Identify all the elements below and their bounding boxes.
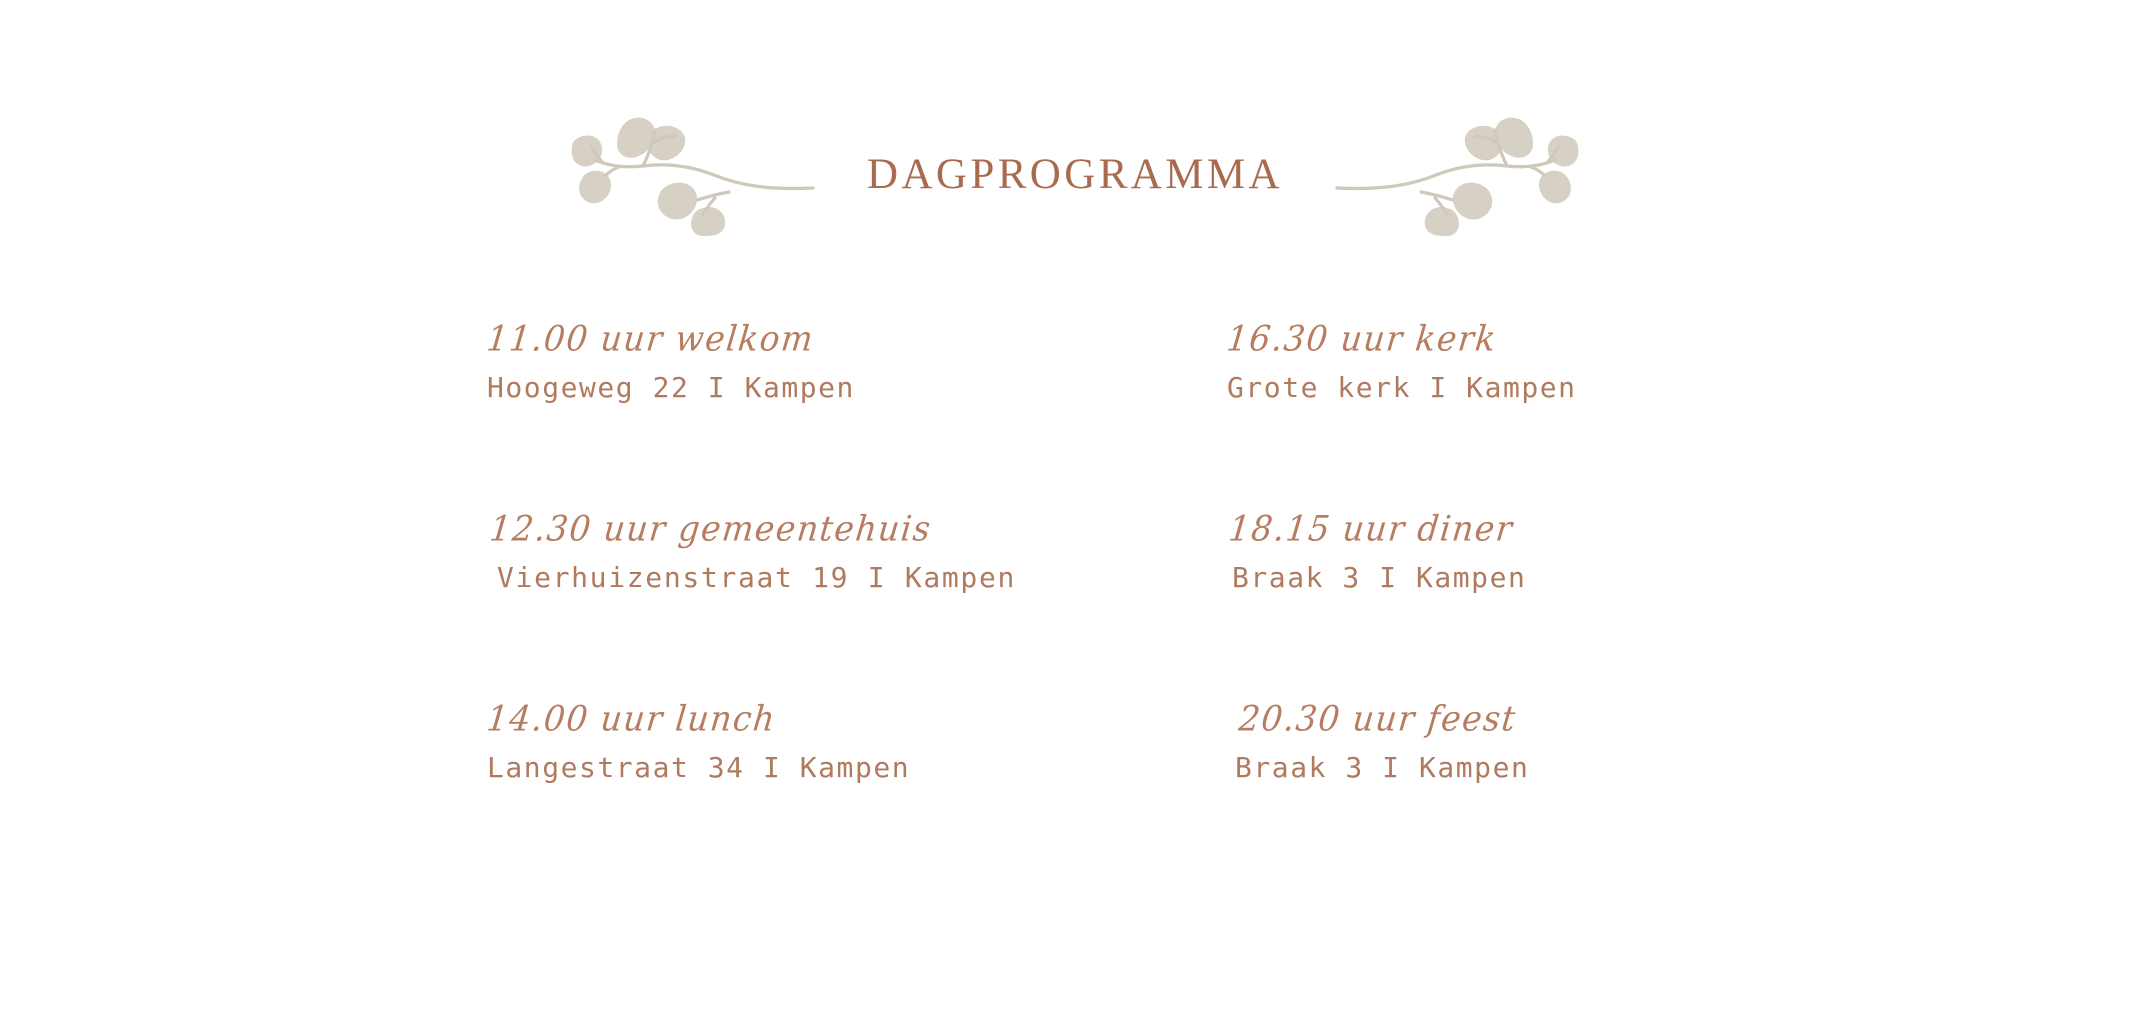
schedule-item-time: 14.00 uur lunch [485,701,1229,738]
schedule-item-time: 11.00 uur welkom [485,321,1229,358]
schedule-item-gemeentehuis: 12.30 uur gemeentehuis Vierhuizenstraat … [487,512,1227,702]
schedule-row: 12.30 uur gemeentehuis Vierhuizenstraat … [487,512,1667,702]
schedule-item-time: 20.30 uur feest [1237,701,1669,738]
schedule-row: 11.00 uur welkom Hoogeweg 22 I Kampen 16… [487,322,1667,512]
schedule-item-time: 16.30 uur kerk [1225,321,1669,358]
schedule-item-welkom: 11.00 uur welkom Hoogeweg 22 I Kampen [487,322,1227,512]
header: Dagprogramma [0,96,2150,236]
schedule-item-feest: 20.30 uur feest Braak 3 I Kampen [1227,702,1667,784]
schedule-item-place: Braak 3 I Kampen [1232,561,1667,595]
schedule-item-diner: 18.15 uur diner Braak 3 I Kampen [1227,512,1667,702]
schedule-item-place: Grote kerk I Kampen [1227,371,1667,405]
schedule-item-place: Langestraat 34 I Kampen [487,751,1227,785]
botanical-branch-right-icon [1309,96,1599,236]
schedule-item-place: Vierhuizenstraat 19 I Kampen [497,561,1227,595]
page-title: Dagprogramma [841,137,1309,199]
schedule-item-time: 12.30 uur gemeentehuis [488,511,1229,548]
schedule-item-kerk: 16.30 uur kerk Grote kerk I Kampen [1227,322,1667,512]
dagprogramma-card: Dagprogramma [0,0,2150,1023]
schedule-row: 14.00 uur lunch Langestraat 34 I Kampen … [487,702,1667,784]
schedule-item-lunch: 14.00 uur lunch Langestraat 34 I Kampen [487,702,1227,784]
schedule-item-place: Braak 3 I Kampen [1235,751,1667,785]
schedule-list: 11.00 uur welkom Hoogeweg 22 I Kampen 16… [487,322,1667,784]
botanical-branch-left-icon [551,96,841,236]
schedule-item-place: Hoogeweg 22 I Kampen [487,371,1227,405]
schedule-item-time: 18.15 uur diner [1227,511,1669,548]
